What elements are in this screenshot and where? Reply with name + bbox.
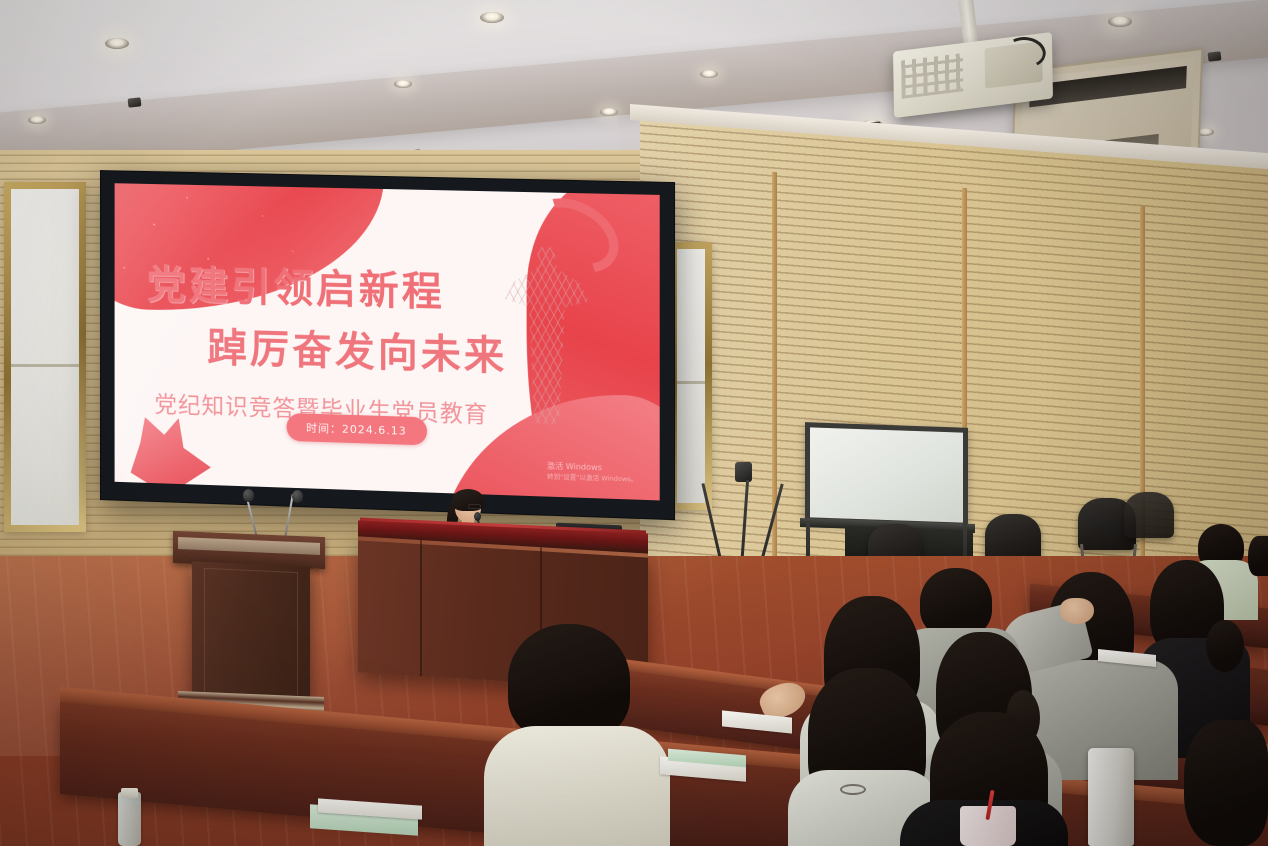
mobile-whiteboard	[805, 422, 968, 528]
audience-person-body	[484, 726, 670, 846]
framed-wall-panel-right	[670, 242, 712, 510]
ribbon-flame-icon	[131, 417, 211, 497]
downlight	[105, 38, 129, 49]
projection-screen-frame: 党建引领启新程 踔厉奋发向未来 党纪知识竞答暨毕业生党员教育 时间：2024.6…	[100, 170, 675, 520]
folding-chair	[1124, 492, 1174, 538]
sprinkler-head	[128, 97, 142, 107]
slide-title-line1: 党建引领启新程	[147, 253, 527, 321]
bottle-cap	[121, 788, 138, 798]
eyeglasses-on-desk	[840, 784, 866, 795]
podium-microphone-head	[292, 490, 303, 503]
projector-vent-grille	[901, 53, 963, 99]
lecture-hall-photo: 党建引领启新程 踔厉奋发向未来 党纪知识竞答暨毕业生党员教育 时间：2024.6…	[0, 0, 1268, 846]
podium	[192, 561, 310, 704]
audience-person-head	[508, 624, 630, 740]
audience-hand	[1060, 598, 1094, 624]
desk-panel-seam	[420, 540, 422, 676]
slide-date-badge: 时间：2024.6.13	[286, 412, 426, 444]
water-bottle	[118, 792, 141, 846]
sprinkler-head	[1208, 51, 1222, 61]
desk-microphone-head	[474, 512, 481, 521]
audience-hair-bun	[1206, 620, 1244, 672]
white-thermos	[1088, 748, 1134, 846]
windows-activation-watermark: 激活 Windows 转到"设置"以激活 Windows。	[547, 462, 637, 485]
downlight	[394, 80, 412, 88]
presenter-glasses	[468, 504, 481, 509]
downlight	[480, 12, 504, 23]
downlight	[600, 108, 618, 116]
audience-person-head	[1248, 536, 1268, 576]
framed-wall-panel-left	[4, 182, 86, 532]
camera-on-tripod	[735, 462, 752, 482]
downlight	[700, 70, 718, 78]
presentation-slide: 党建引领启新程 踔厉奋发向未来 党纪知识竞答暨毕业生党员教育 时间：2024.6…	[115, 183, 660, 500]
slide-title-line2: 踔厉奋发向未来	[207, 316, 526, 383]
slide-title-block: 党建引领启新程 踔厉奋发向未来 党纪知识竞答暨毕业生党员教育	[147, 253, 527, 431]
downlight	[28, 116, 46, 124]
podium-microphone-head	[243, 489, 254, 502]
downlight	[1108, 16, 1132, 27]
audience-person-head	[1184, 720, 1268, 846]
projection-screen: 党建引领启新程 踔厉奋发向未来 党纪知识竞答暨毕业生党员教育 时间：2024.6…	[115, 183, 660, 500]
